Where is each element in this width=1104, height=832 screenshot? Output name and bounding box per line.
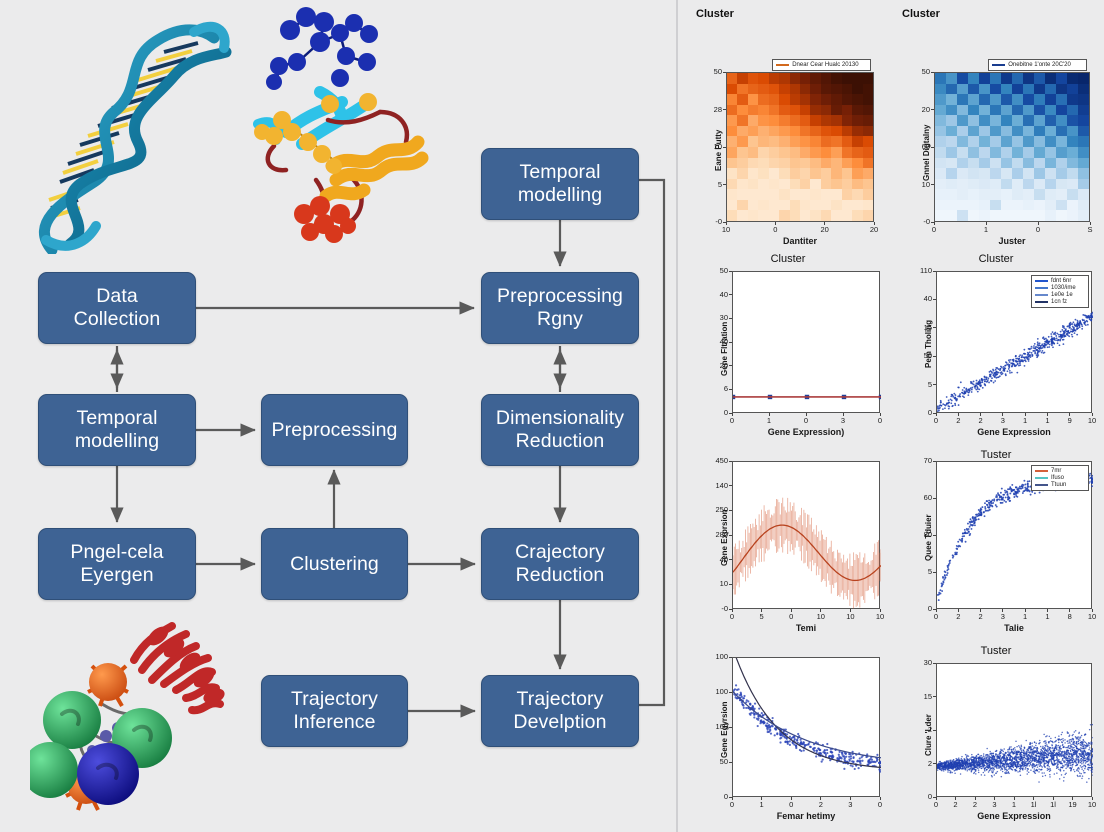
x-axis-label: Femar hetimy <box>732 811 880 821</box>
y-tick-mark <box>933 384 936 385</box>
x-tick: 10 <box>812 612 830 621</box>
y-tick-mark <box>933 356 936 357</box>
x-tick: 0 <box>723 612 741 621</box>
node-line: modelling <box>75 430 159 453</box>
y-tick-mark <box>933 696 936 697</box>
y-tick: 50 <box>914 351 932 360</box>
node-line: Reduction <box>515 564 605 587</box>
x-tick: 1 <box>1038 612 1056 621</box>
node-line: Preprocessing <box>272 419 398 442</box>
plot-area <box>934 72 1090 222</box>
x-tick-mark <box>820 797 821 800</box>
y-tick: 6 <box>710 384 728 393</box>
legend-item: fdnt 6nr <box>1035 278 1085 284</box>
x-tick-mark <box>975 797 976 800</box>
x-tick: 0 <box>723 416 741 425</box>
x-axis-label: Talie <box>936 623 1092 633</box>
y-tick-mark <box>723 72 726 73</box>
x-tick-mark <box>955 797 956 800</box>
y-tick-mark <box>933 572 936 573</box>
flow-node-preprocessing-middle[interactable]: Preprocessing <box>261 394 408 466</box>
node-line: Rgny <box>497 308 623 331</box>
x-tick-mark <box>732 609 733 612</box>
legend-swatch <box>1035 484 1048 486</box>
x-tick: 0 <box>927 800 945 809</box>
legend-swatch <box>992 64 1005 66</box>
x-tick-mark <box>880 413 881 416</box>
x-tick-mark <box>980 413 981 416</box>
chart-scatter-rising: ClusterPem TholingGene Expression0550154… <box>894 255 1098 451</box>
y-tick: 30 <box>914 658 932 667</box>
x-tick: 1 <box>1016 612 1034 621</box>
x-tick: 10 <box>841 612 859 621</box>
x-tick: 0 <box>1029 225 1047 234</box>
y-tick: 100 <box>710 652 728 661</box>
flow-node-trajectory-reduction[interactable]: Crajectory Reduction <box>481 528 639 600</box>
y-tick: 50 <box>704 67 722 76</box>
chart-legend: 7mrIfusoTtuun <box>1031 465 1089 491</box>
flow-node-preprocessing-right[interactable]: Preprocessing Rgny <box>481 272 639 344</box>
y-tick-mark <box>931 72 934 73</box>
x-tick: S <box>1081 225 1099 234</box>
y-tick-mark <box>729 657 732 658</box>
chart-scatter-decay: Gene EgyrsionFemar hetimy050160100100010… <box>688 647 888 832</box>
x-tick: 2 <box>972 416 990 425</box>
y-tick-mark <box>729 762 732 763</box>
x-tick: 1 <box>1005 800 1023 809</box>
plot-svg <box>733 272 881 414</box>
legend-swatch <box>1035 301 1048 303</box>
y-tick-mark <box>729 485 732 486</box>
x-tick: 8 <box>1061 612 1079 621</box>
y-tick: 10 <box>912 180 930 189</box>
y-axis-label: Gnnel Digtalny <box>922 124 931 180</box>
y-tick: 450 <box>710 456 728 465</box>
y-tick-mark <box>933 763 936 764</box>
x-tick-mark <box>806 413 807 416</box>
flow-node-single-cell-experiment[interactable]: Pngel-cela Eyergen <box>38 528 196 600</box>
x-tick: 10 <box>1083 612 1101 621</box>
x-tick-mark <box>761 609 762 612</box>
x-tick-mark <box>1069 413 1070 416</box>
y-tick: 40 <box>710 290 728 299</box>
x-axis-label: Juster <box>934 236 1090 246</box>
x-tick-mark <box>1069 609 1070 612</box>
legend-label: 1030/ime <box>1051 285 1076 291</box>
legend-label: Ifuso <box>1051 475 1064 481</box>
x-tick: 0 <box>782 800 800 809</box>
chart-title: Cluster <box>902 8 1098 20</box>
legend-label: Onebitne 1'onte 20C'20 <box>1008 62 1071 68</box>
node-line: Dimensionality <box>496 407 624 430</box>
x-tick-mark <box>769 413 770 416</box>
chart-line-errorbars: Gene ExprsionTemi-0104028025014045005010… <box>688 451 888 647</box>
y-tick: 140 <box>710 481 728 490</box>
legend-swatch <box>776 64 789 66</box>
y-tick-mark <box>729 727 732 728</box>
y-tick: 80 <box>914 530 932 539</box>
y-tick: 2 <box>914 759 932 768</box>
x-tick-mark <box>850 797 851 800</box>
x-axis-label: Dantiter <box>726 236 874 246</box>
x-tick: 2 <box>812 800 830 809</box>
x-tick-mark <box>824 222 825 225</box>
x-tick-mark <box>1072 797 1073 800</box>
x-tick: 10 <box>871 612 889 621</box>
node-line: Eyergen <box>70 564 163 587</box>
x-tick: 0 <box>723 800 741 809</box>
x-tick: 0 <box>797 416 815 425</box>
x-tick-mark <box>791 797 792 800</box>
node-line: Trajectory <box>513 688 606 711</box>
chart-legend: Onebitne 1'onte 20C'20 <box>988 59 1087 71</box>
x-tick-mark <box>1092 797 1093 800</box>
legend-label: 1e0e 1e <box>1051 292 1073 298</box>
x-tick: 0 <box>927 612 945 621</box>
x-tick-mark <box>761 797 762 800</box>
x-tick-mark <box>1092 413 1093 416</box>
chart-heatmap-orange: ClusterEane PuttyDantiter-05102850100202… <box>688 34 888 249</box>
y-tick: 28 <box>704 105 722 114</box>
figure-root: Data Collection Temporal modelling Pngel… <box>0 0 1104 832</box>
y-tick: 15 <box>914 692 932 701</box>
x-tick: 9 <box>1061 416 1079 425</box>
y-tick-mark <box>933 327 936 328</box>
y-tick-mark <box>933 271 936 272</box>
flow-node-dimensionality-reduction[interactable]: Dimensionality Reduction <box>481 394 639 466</box>
x-tick: 0 <box>927 416 945 425</box>
node-line: Develption <box>513 711 606 734</box>
y-tick: 30 <box>710 313 728 322</box>
y-tick-mark <box>729 365 732 366</box>
left-panel: Data Collection Temporal modelling Pngel… <box>0 0 676 832</box>
x-tick: 2 <box>972 612 990 621</box>
y-tick: 100 <box>710 687 728 696</box>
x-tick-mark <box>936 609 937 612</box>
y-tick-mark <box>933 498 936 499</box>
x-tick-mark <box>1038 222 1039 225</box>
x-tick-mark <box>791 609 792 612</box>
x-tick: 3 <box>986 800 1004 809</box>
heatmap-grid <box>727 73 873 221</box>
x-tick-mark <box>820 609 821 612</box>
y-tick-mark <box>729 389 732 390</box>
x-tick-mark <box>1002 413 1003 416</box>
x-tick: 3 <box>994 416 1012 425</box>
x-axis-label: Gene Expression <box>936 811 1092 821</box>
x-tick-mark <box>880 797 881 800</box>
x-tick: 0 <box>782 612 800 621</box>
y-tick-mark <box>933 535 936 536</box>
flow-node-clustering[interactable]: Clustering <box>261 528 408 600</box>
y-tick-mark <box>729 535 732 536</box>
x-tick-mark <box>1047 609 1048 612</box>
legend-swatch <box>1035 294 1048 296</box>
y-tick: 70 <box>914 456 932 465</box>
plot-area <box>732 271 880 413</box>
legend-item: 7mr <box>1035 468 1085 474</box>
legend-label: Dnear Cear Hualc 20130 <box>792 62 858 68</box>
y-tick: 280 <box>710 530 728 539</box>
y-tick-mark <box>729 342 732 343</box>
heatmap-grid <box>935 73 1089 221</box>
x-tick: 20 <box>865 225 883 234</box>
x-axis-label: Temi <box>732 623 880 633</box>
plot-area <box>726 72 874 222</box>
y-tick-mark <box>933 461 936 462</box>
legend-label: 1cn fz <box>1051 299 1067 305</box>
x-tick: 1 <box>753 800 771 809</box>
legend-item: Onebitne 1'onte 20C'20 <box>992 62 1083 68</box>
x-tick-mark <box>1025 609 1026 612</box>
x-tick: 2 <box>949 612 967 621</box>
x-tick: 0 <box>766 225 784 234</box>
y-tick: 10 <box>704 142 722 151</box>
x-tick: 1 <box>760 416 778 425</box>
node-line: Data <box>74 285 161 308</box>
y-tick-mark <box>723 147 726 148</box>
x-axis-label: Gene Expression) <box>732 427 880 437</box>
x-tick-mark <box>726 222 727 225</box>
y-tick-mark <box>723 184 726 185</box>
x-tick: 1 <box>1038 416 1056 425</box>
x-tick-mark <box>1092 609 1093 612</box>
legend-item: Dnear Cear Hualc 20130 <box>776 62 867 68</box>
x-tick-mark <box>874 222 875 225</box>
chart-title: Tuster <box>894 645 1098 657</box>
node-line: Reduction <box>496 430 624 453</box>
y-tick-mark <box>729 510 732 511</box>
x-tick: 20 <box>816 225 834 234</box>
y-tick: 60 <box>912 142 930 151</box>
legend-item: 1e0e 1e <box>1035 292 1085 298</box>
y-tick: 50 <box>710 266 728 275</box>
y-tick: 40 <box>914 294 932 303</box>
y-tick-mark <box>729 294 732 295</box>
chart-scatter-saturating: TusterQuee TduierTalie058060700223118107… <box>894 451 1098 647</box>
y-tick-mark <box>729 318 732 319</box>
x-tick-mark <box>1053 797 1054 800</box>
legend-swatch <box>1035 470 1048 472</box>
x-tick-mark <box>1090 222 1091 225</box>
y-tick-mark <box>723 109 726 110</box>
x-tick-mark <box>994 797 995 800</box>
legend-item: Ttuun <box>1035 482 1085 488</box>
y-tick-mark <box>931 109 934 110</box>
chart-title: Cluster <box>894 253 1098 265</box>
x-tick: 10 <box>1083 416 1101 425</box>
chart-heatmap-blue: ClusterGnnel DigtalnyJuster-010602050010… <box>894 34 1098 249</box>
x-tick: 3 <box>841 800 859 809</box>
x-tick: 3 <box>834 416 852 425</box>
x-tick-mark <box>958 609 959 612</box>
y-tick-mark <box>933 299 936 300</box>
y-tick: 10 <box>710 579 728 588</box>
charts-panel: ClusterEane PuttyDantiter-05102850100202… <box>678 0 1104 832</box>
x-tick-mark <box>1047 413 1048 416</box>
x-tick: 2 <box>966 800 984 809</box>
y-tick-mark <box>933 730 936 731</box>
flow-node-trajectory-inference[interactable]: Trajectory Inference <box>261 675 408 747</box>
x-tick-mark <box>850 609 851 612</box>
x-tick: 5 <box>753 612 771 621</box>
legend-label: 7mr <box>1051 468 1061 474</box>
x-tick: 1 <box>977 225 995 234</box>
legend-swatch <box>1035 477 1048 479</box>
y-tick-mark <box>933 663 936 664</box>
plot-svg <box>937 664 1093 798</box>
flow-node-trajectory-development[interactable]: Trajectory Develption <box>481 675 639 747</box>
x-tick: 10 <box>717 225 735 234</box>
y-tick: 5 <box>914 380 932 389</box>
y-tick: 40 <box>710 555 728 564</box>
x-tick-mark <box>934 222 935 225</box>
x-tick: 0 <box>925 225 943 234</box>
y-tick-mark <box>729 461 732 462</box>
plot-area <box>732 657 880 797</box>
flow-node-temporal-modelling-left[interactable]: Temporal modelling <box>38 394 196 466</box>
y-axis-label: Clure 'Lder <box>924 714 933 756</box>
node-line: Collection <box>74 308 161 331</box>
y-tick-mark <box>729 271 732 272</box>
legend-label: fdnt 6nr <box>1051 278 1071 284</box>
x-axis-label: Gene Expression <box>936 427 1092 437</box>
x-tick-mark <box>1033 797 1034 800</box>
x-tick-mark <box>936 413 937 416</box>
node-line: Temporal <box>75 407 159 430</box>
y-tick: 160 <box>710 722 728 731</box>
y-tick: 2 <box>914 725 932 734</box>
chart-line-flat: ClusterGene FltrationGene Expression)062… <box>688 255 888 451</box>
y-tick-mark <box>729 584 732 585</box>
x-tick-mark <box>958 413 959 416</box>
x-tick: 3 <box>994 612 1012 621</box>
y-tick: 15 <box>914 323 932 332</box>
y-tick: 20 <box>912 105 930 114</box>
y-tick: 5 <box>704 180 722 189</box>
x-tick-mark <box>880 609 881 612</box>
node-line: modelling <box>518 184 602 207</box>
x-tick: 19 <box>1064 800 1082 809</box>
x-tick-mark <box>843 413 844 416</box>
x-tick-mark <box>775 222 776 225</box>
plot-area <box>732 461 880 609</box>
y-tick: 20 <box>710 361 728 370</box>
x-tick: 0 <box>871 800 889 809</box>
plot-svg <box>733 658 881 798</box>
y-tick-mark <box>729 559 732 560</box>
node-line: Preprocessing <box>497 285 623 308</box>
node-line: Temporal <box>518 161 602 184</box>
legend-item: 1030/ime <box>1035 285 1085 291</box>
x-tick-mark <box>732 413 733 416</box>
x-tick-mark <box>732 797 733 800</box>
y-tick-mark <box>729 692 732 693</box>
legend-swatch <box>1035 287 1048 289</box>
flow-node-temporal-modelling-right[interactable]: Temporal modelling <box>481 148 639 220</box>
y-tick: 110 <box>914 266 932 275</box>
y-tick: 60 <box>914 493 932 502</box>
y-tick: 40 <box>710 337 728 346</box>
chart-legend: fdnt 6nr1030/ime1e0e 1e1cn fz <box>1031 275 1089 308</box>
x-tick-mark <box>1002 609 1003 612</box>
x-tick-mark <box>986 222 987 225</box>
x-tick-mark <box>980 609 981 612</box>
y-tick-mark <box>931 184 934 185</box>
node-line: Pngel-cela <box>70 541 163 564</box>
y-tick: 50 <box>710 757 728 766</box>
x-tick: 0 <box>871 416 889 425</box>
x-tick: 2 <box>947 800 965 809</box>
y-tick: 250 <box>710 505 728 514</box>
x-tick-mark <box>1014 797 1015 800</box>
x-tick-mark <box>1025 413 1026 416</box>
chart-legend: Dnear Cear Hualc 20130 <box>772 59 871 71</box>
legend-label: Ttuun <box>1051 482 1066 488</box>
chart-scatter-dense: TusterClure 'LderGene Expression02215300… <box>894 647 1098 832</box>
node-line: Trajectory <box>291 688 378 711</box>
legend-item: Ifuso <box>1035 475 1085 481</box>
legend-item: 1cn fz <box>1035 299 1085 305</box>
node-line: Crajectory <box>515 541 605 564</box>
y-tick-mark <box>931 147 934 148</box>
x-tick: 1l <box>1025 800 1043 809</box>
node-line: Inference <box>291 711 378 734</box>
y-tick: 50 <box>912 67 930 76</box>
y-tick: 5 <box>914 567 932 576</box>
plot-area <box>936 663 1092 797</box>
flow-node-data-collection[interactable]: Data Collection <box>38 272 196 344</box>
x-tick: 1 <box>1016 416 1034 425</box>
chart-title: Cluster <box>696 8 888 20</box>
x-tick-mark <box>936 797 937 800</box>
x-tick: 2 <box>949 416 967 425</box>
plot-svg <box>733 462 881 610</box>
legend-swatch <box>1035 280 1048 282</box>
chart-title: Cluster <box>688 253 888 265</box>
x-tick: 10 <box>1083 800 1101 809</box>
x-tick: 1l <box>1044 800 1062 809</box>
node-line: Clustering <box>290 553 379 576</box>
